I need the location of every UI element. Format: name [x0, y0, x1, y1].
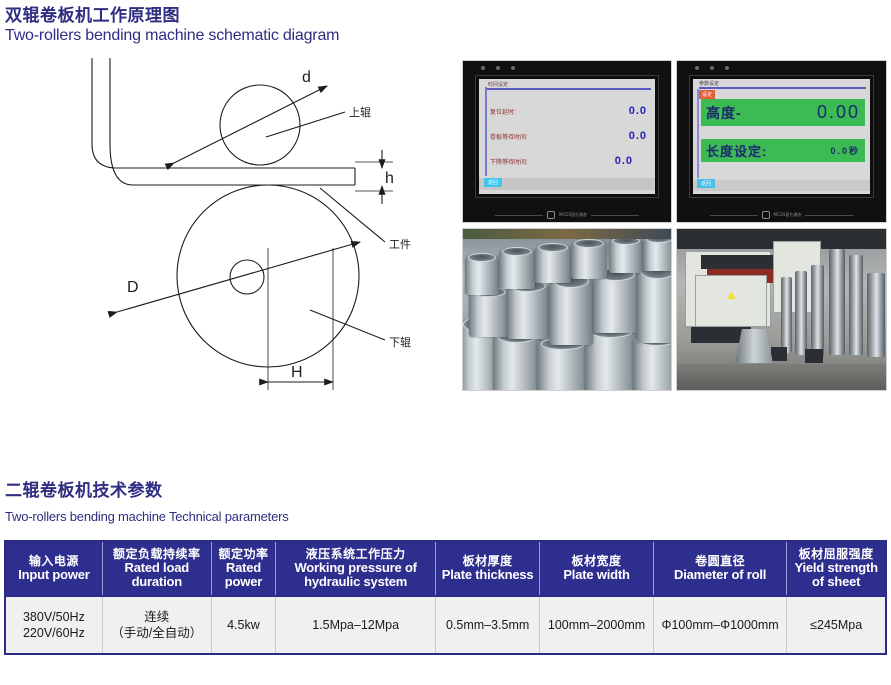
- page-title-bottom: 二辊卷板机技术参数 Two-rollers bending machine Te…: [5, 481, 289, 527]
- hmi-param-value[interactable]: 0.0: [629, 130, 647, 142]
- label-d: d: [302, 69, 311, 86]
- cell-rated-load-duration: 连续 （手动/全自动）: [102, 596, 211, 654]
- hmi-height-label: 高度-: [706, 103, 742, 123]
- hmi-screen: 参数设定 设定 高度- 0.00 长度设定: 0.0秒 返回: [693, 79, 870, 194]
- hmi-param-row[interactable]: 卷板等待时间: 0.0: [490, 130, 647, 142]
- column-header-plate-width: 板材宽度 Plate width: [540, 541, 654, 596]
- column-header-cn: 额定功率: [214, 547, 274, 561]
- hmi-param-row[interactable]: 复位延时: 0.0: [490, 105, 647, 117]
- column-header-en: Rated power: [214, 561, 274, 589]
- logo-rule-right: [591, 215, 639, 216]
- upper-roller-leader: [266, 112, 345, 137]
- cell-working-pressure: 1.5Mpa–12Mpa: [276, 596, 436, 654]
- column-header-cn: 液压系统工作压力: [278, 547, 433, 561]
- led-indicator: [511, 66, 515, 70]
- table-row: 380V/50Hz 220V/60Hz 连续 （手动/全自动） 4.5kw 1.…: [5, 596, 886, 654]
- table-body: 380V/50Hz 220V/60Hz 连续 （手动/全自动） 4.5kw 1.…: [5, 596, 886, 654]
- hmi-height-field[interactable]: 高度- 0.00: [701, 99, 865, 126]
- hmi-title-rule: [487, 88, 651, 90]
- workpiece-inner: [110, 58, 355, 185]
- hmi-brand-text: MCGS昆仑通态: [774, 212, 802, 218]
- hmi-title-rule: [699, 87, 866, 89]
- lower-roller-shaft: [230, 260, 264, 294]
- label-h: h: [385, 170, 394, 187]
- label-workpiece: 工件: [389, 238, 411, 251]
- column-header-cn: 额定负载持续率: [105, 547, 209, 561]
- hmi-length-field[interactable]: 长度设定: 0.0秒: [701, 139, 865, 162]
- mcgs-logo-icon: [547, 211, 555, 219]
- machine-products-image: [677, 229, 886, 390]
- cell-plate-width: 100mm–2000mm: [540, 596, 654, 654]
- logo-rule-left: [710, 215, 758, 216]
- page-title-top-en: Two-rollers bending machine schematic di…: [5, 26, 339, 46]
- column-header-en: Working pressure of hydraulic system: [278, 561, 433, 589]
- label-H: H: [291, 364, 303, 381]
- cell-plate-thickness: 0.5mm–3.5mm: [436, 596, 540, 654]
- label-upper-roller: 上辊: [349, 105, 371, 119]
- photo-hmi-setting-screen: 参数设定 设定 高度- 0.00 长度设定: 0.0秒 返回: [676, 60, 887, 223]
- hmi-brand-logo: MCGS昆仑通态: [677, 211, 886, 219]
- page-title-bottom-en: Two-rollers bending machine Technical pa…: [5, 507, 289, 527]
- label-lower-roller: 下辊: [389, 335, 411, 349]
- hmi-param-label: 下降等待时间:: [490, 157, 528, 166]
- hmi-height-value[interactable]: 0.00: [817, 102, 860, 123]
- hmi-bezel: 参数设定 设定 高度- 0.00 长度设定: 0.0秒 返回: [677, 61, 886, 222]
- hmi-length-value[interactable]: 0.0秒: [830, 144, 860, 157]
- hmi-param-label: 卷板等待时间:: [490, 132, 528, 141]
- hmi-brand-logo: MCGS昆仑通态: [463, 211, 671, 219]
- column-header-en: Plate width: [542, 568, 651, 582]
- hmi-brand-text: MCGS昆仑通态: [559, 212, 587, 218]
- led-indicator: [481, 66, 485, 70]
- photo-hmi-timer-screen: 时间设定 复位延时: 0.0 卷板等待时间: 0.0 下降等待时间: 0.0: [462, 60, 672, 223]
- schematic-diagram: d 上辊 h 工件 D 下辊 H: [55, 52, 455, 402]
- hmi-screen-frame: 时间设定 复位延时: 0.0 卷板等待时间: 0.0 下降等待时间: 0.0: [475, 75, 659, 198]
- column-header-cn: 输入电源: [8, 554, 100, 568]
- hmi-param-value[interactable]: 0.0: [629, 105, 647, 117]
- cell-line: 连续: [105, 609, 209, 625]
- column-header-diameter-of-roll: 卷圆直径 Diameter of roll: [653, 541, 786, 596]
- photo-rolled-cylinders: [462, 228, 672, 391]
- cell-yield-strength: ≤245Mpa: [787, 596, 886, 654]
- hmi-status-leds: [481, 66, 515, 70]
- workpiece-leader: [320, 188, 385, 242]
- hmi-param-row[interactable]: 下降等待时间: 0.0: [490, 155, 647, 167]
- upper-roller-circle: [220, 85, 300, 165]
- lower-roller-leader: [310, 310, 385, 340]
- workpiece-outer: [92, 58, 355, 168]
- technical-parameters-table: 输入电源 Input power 额定负载持续率 Rated load dura…: [4, 540, 887, 655]
- column-header-working-pressure: 液压系统工作压力 Working pressure of hydraulic s…: [276, 541, 436, 596]
- led-indicator: [496, 66, 500, 70]
- cell-rated-power: 4.5kw: [211, 596, 276, 654]
- logo-rule-right: [805, 215, 853, 216]
- led-indicator: [710, 66, 714, 70]
- page-title-top: 双辊卷板机工作原理图 Two-rollers bending machine s…: [5, 6, 339, 46]
- hmi-left-accent-bar: [485, 87, 487, 176]
- table-header-row: 输入电源 Input power 额定负载持续率 Rated load dura…: [5, 541, 886, 596]
- cell-line: 380V/50Hz: [8, 609, 100, 625]
- hmi-back-button[interactable]: 返回: [484, 178, 502, 187]
- page-title-bottom-cn: 二辊卷板机技术参数: [5, 481, 289, 501]
- hmi-footer-bar: [693, 180, 870, 191]
- photo-machine-and-products: [676, 228, 887, 391]
- rolled-cylinders-image: [463, 229, 671, 390]
- cell-input-power: 380V/50Hz 220V/60Hz: [5, 596, 102, 654]
- column-header-cn: 卷圆直径: [656, 554, 784, 568]
- page-root: 双辊卷板机工作原理图 Two-rollers bending machine s…: [0, 0, 891, 685]
- column-header-rated-power: 额定功率 Rated power: [211, 541, 276, 596]
- hmi-back-button[interactable]: 返回: [697, 179, 715, 188]
- hmi-bezel: 时间设定 复位延时: 0.0 卷板等待时间: 0.0 下降等待时间: 0.0: [463, 61, 671, 222]
- cell-line: （手动/全自动）: [105, 625, 209, 641]
- hmi-screen: 时间设定 复位延时: 0.0 卷板等待时间: 0.0 下降等待时间: 0.0: [479, 79, 655, 194]
- label-D: D: [127, 279, 139, 296]
- led-indicator: [695, 66, 699, 70]
- column-header-plate-thickness: 板材厚度 Plate thickness: [436, 541, 540, 596]
- hmi-mode-tag: 设定: [699, 90, 715, 99]
- hmi-footer-bar: [479, 178, 655, 190]
- cell-line: 220V/60Hz: [8, 625, 100, 641]
- hmi-screen-title: 参数设定: [699, 80, 719, 87]
- page-title-top-cn: 双辊卷板机工作原理图: [5, 6, 339, 26]
- cell-diameter-of-roll: Φ100mm–Φ1000mm: [653, 596, 786, 654]
- logo-rule-left: [495, 215, 543, 216]
- hmi-screen-frame: 参数设定 设定 高度- 0.00 长度设定: 0.0秒 返回: [689, 75, 874, 198]
- hmi-screen-title: 时间设定: [488, 81, 508, 88]
- table-header: 输入电源 Input power 额定负载持续率 Rated load dura…: [5, 541, 886, 596]
- column-header-cn: 板材厚度: [438, 554, 537, 568]
- column-header-input-power: 输入电源 Input power: [5, 541, 102, 596]
- hmi-param-value[interactable]: 0.0: [615, 155, 633, 167]
- column-header-en: Input power: [8, 568, 100, 582]
- column-header-rated-load-duration: 额定负载持续率 Rated load duration: [102, 541, 211, 596]
- hmi-status-leds: [695, 66, 729, 70]
- mcgs-logo-icon: [762, 211, 770, 219]
- hmi-param-label: 复位延时:: [490, 107, 516, 116]
- hmi-left-accent-bar: [697, 89, 699, 178]
- column-header-en: Rated load duration: [105, 561, 209, 589]
- column-header-en: Yield strength of sheet: [789, 561, 883, 589]
- column-header-cn: 板材屈服强度: [789, 547, 883, 561]
- column-header-en: Plate thickness: [438, 568, 537, 582]
- column-header-cn: 板材宽度: [542, 554, 651, 568]
- hmi-length-label: 长度设定:: [706, 141, 767, 160]
- led-indicator: [725, 66, 729, 70]
- schematic-svg: d 上辊 h 工件 D 下辊 H: [55, 52, 455, 402]
- lower-roller-diameter-line: [117, 242, 360, 312]
- column-header-yield-strength: 板材屈服强度 Yield strength of sheet: [787, 541, 886, 596]
- column-header-en: Diameter of roll: [656, 568, 784, 582]
